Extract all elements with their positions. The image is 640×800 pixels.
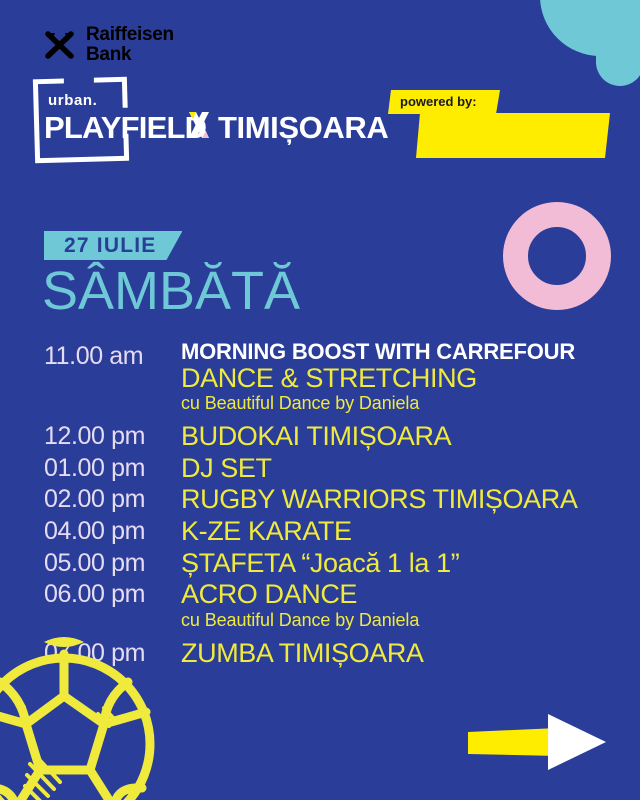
sponsor-name: Raiffeisen Bank xyxy=(86,25,174,64)
schedule-row-time: 12.00 pm xyxy=(44,422,179,451)
schedule-row-title: BUDOKAI TIMIȘOARA xyxy=(181,422,614,452)
schedule-list: 11.00 amMORNING BOOST WITH CARREFOURDANC… xyxy=(44,340,614,670)
raiffeisen-gable-cross-icon xyxy=(44,30,76,60)
logo-city-text: TIMIȘOARA xyxy=(218,112,388,143)
schedule-row-title: K-ZE KARATE xyxy=(181,517,614,547)
schedule-row-time: 11.00 am xyxy=(44,340,179,371)
schedule-row: 12.00 pmBUDOKAI TIMIȘOARA xyxy=(44,422,614,452)
schedule-row-body: ȘTAFETA “Joacă 1 la 1” xyxy=(179,549,614,579)
schedule-row-time: 05.00 pm xyxy=(44,549,179,578)
schedule-row-time: 01.00 pm xyxy=(44,454,179,483)
schedule-row-time: 02.00 pm xyxy=(44,485,179,514)
schedule-row-body: BUDOKAI TIMIȘOARA xyxy=(179,422,614,452)
schedule-row: 02.00 pmRUGBY WARRIORS TIMIȘOARA xyxy=(44,485,614,515)
schedule-row-title: ACRO DANCE xyxy=(181,580,614,610)
schedule-row: 01.00 pmDJ SET xyxy=(44,454,614,484)
schedule-row-time: 04.00 pm xyxy=(44,517,179,546)
schedule-row-title: DJ SET xyxy=(181,454,614,484)
day-name-heading: SÂMBĂTĂ xyxy=(42,262,300,321)
schedule-row-body: ACRO DANCEcu Beautiful Dance by Daniela xyxy=(179,580,614,631)
schedule-row-body: ZUMBA TIMIȘOARA xyxy=(179,639,614,669)
schedule-row-title: ZUMBA TIMIȘOARA xyxy=(181,639,614,669)
logo-x-icon xyxy=(186,110,212,140)
date-badge: 27 IULIE xyxy=(44,231,182,260)
schedule-row-subtitle: cu Beautiful Dance by Daniela xyxy=(181,393,614,415)
schedule-row-body: RUGBY WARRIORS TIMIȘOARA xyxy=(179,485,614,515)
powered-by-tab: powered by: xyxy=(388,90,500,114)
schedule-row-subtitle: cu Beautiful Dance by Daniela xyxy=(181,610,614,632)
sponsor-name-line1: Raiffeisen xyxy=(86,25,174,45)
schedule-row: 04.00 pmK-ZE KARATE xyxy=(44,517,614,547)
powered-by-label: powered by: xyxy=(400,94,477,109)
schedule-row-time: 06.00 pm xyxy=(44,580,179,609)
teal-blob-icon xyxy=(540,0,640,56)
schedule-row-body: DJ SET xyxy=(179,454,614,484)
event-schedule-poster: urban. PLAYFIELD TIMIȘOARA powered by: R… xyxy=(0,0,640,800)
schedule-row-pretitle: MORNING BOOST WITH CARREFOUR xyxy=(181,340,614,364)
right-arrow-icon xyxy=(466,712,616,772)
schedule-row: 05.00 pmȘTAFETA “Joacă 1 la 1” xyxy=(44,549,614,579)
schedule-row-title: ȘTAFETA “Joacă 1 la 1” xyxy=(181,549,614,579)
logo-urban-text: urban. xyxy=(48,92,97,109)
schedule-row-body: K-ZE KARATE xyxy=(179,517,614,547)
schedule-row-title: DANCE & STRETCHING xyxy=(181,364,614,394)
sponsor-plate xyxy=(416,113,610,158)
sponsor-name-line2: Bank xyxy=(86,45,174,65)
sponsor-badge: powered by: xyxy=(388,90,610,158)
schedule-row: 06.00 pmACRO DANCEcu Beautiful Dance by … xyxy=(44,580,614,631)
soccer-ball-icon xyxy=(0,636,164,800)
schedule-row: 11.00 amMORNING BOOST WITH CARREFOURDANC… xyxy=(44,340,614,415)
date-badge-label: 27 IULIE xyxy=(64,234,156,258)
pink-ring-icon xyxy=(503,202,611,310)
schedule-row-body: MORNING BOOST WITH CARREFOURDANCE & STRE… xyxy=(179,340,614,415)
schedule-row-title: RUGBY WARRIORS TIMIȘOARA xyxy=(181,485,614,515)
logo-playfield-text: PLAYFIELD xyxy=(44,112,206,143)
